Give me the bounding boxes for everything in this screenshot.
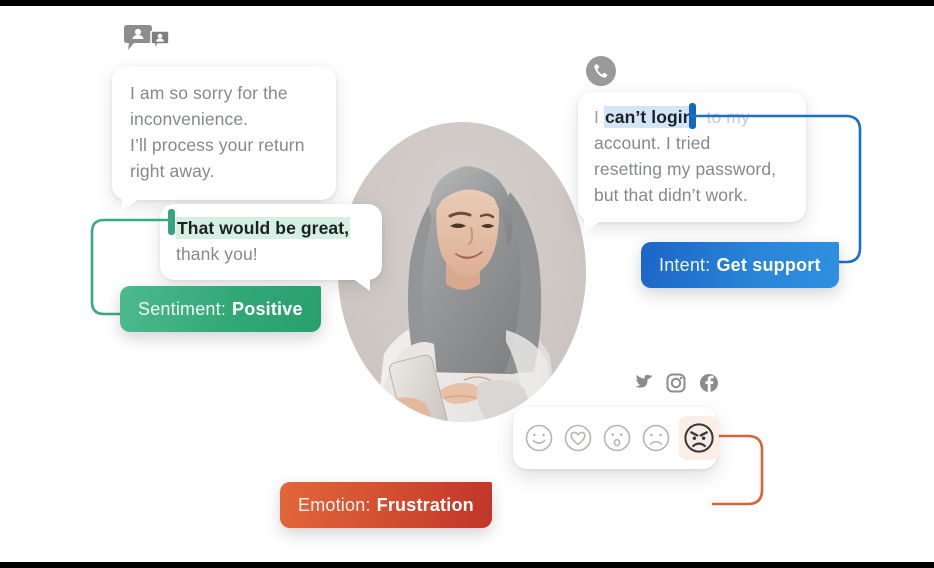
heart-emoji[interactable] [562, 422, 594, 454]
intent-tag-value: Get support [716, 255, 820, 276]
customer-reply-line-2: thank you! [176, 241, 368, 267]
instagram-icon[interactable] [665, 372, 687, 394]
emoji-reaction-bar[interactable] [513, 407, 717, 469]
agent-message-line-3: I’ll process your return [130, 132, 320, 158]
customer-reply-highlight: That would be great, [176, 217, 350, 239]
sentiment-tag-value: Positive [232, 299, 303, 320]
sad-emoji[interactable] [640, 422, 672, 454]
customer-message-highlight: can’t login [604, 106, 695, 128]
agent-message-bubble: I am so sorry for the inconvenience. I’l… [112, 66, 336, 200]
intent-tag[interactable]: Intent: Get support [641, 242, 839, 288]
chat-bubbles-icon [122, 25, 172, 55]
agent-message-line-1: I am so sorry for the [130, 80, 320, 106]
sentiment-tag-label: Sentiment: [138, 299, 226, 320]
surprised-emoji[interactable] [601, 422, 633, 454]
emotion-tag-value: Frustration [377, 495, 474, 516]
customer-bubble-tail [584, 220, 602, 233]
facebook-icon[interactable] [698, 372, 720, 394]
agent-bubble-tail [122, 198, 140, 211]
smile-emoji[interactable] [523, 422, 555, 454]
customer-message-prefix: I [594, 107, 604, 127]
social-channel-icons [632, 372, 720, 394]
top-letterbox-bar [0, 0, 934, 6]
customer-reply-line-1: That would be great, [176, 215, 368, 241]
agent-message-line-4: right away. [130, 158, 320, 184]
customer-reply-bubble-tail [352, 278, 370, 291]
customer-reply-bubble: That would be great, thank you! [160, 204, 382, 280]
twitter-icon[interactable] [632, 372, 654, 394]
angry-emoji[interactable] [679, 416, 719, 460]
bottom-letterbox-bar [0, 562, 934, 568]
sentiment-tag[interactable]: Sentiment: Positive [120, 286, 321, 332]
emotion-tag[interactable]: Emotion: Frustration [280, 482, 492, 528]
intent-tag-label: Intent: [659, 255, 710, 276]
agent-message-line-2: inconvenience. [130, 106, 320, 132]
emotion-connector-line [712, 428, 872, 518]
emotion-tag-label: Emotion: [298, 495, 371, 516]
illustration-canvas: I am so sorry for the inconvenience. I’l… [0, 0, 934, 568]
phone-icon [586, 56, 616, 86]
